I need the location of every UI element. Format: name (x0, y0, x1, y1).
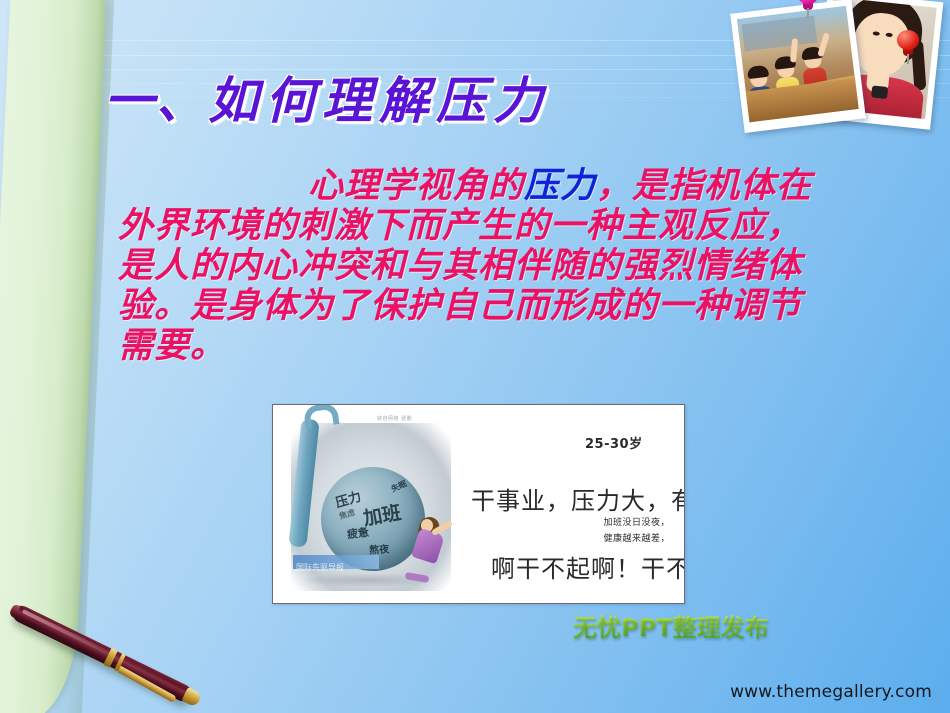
pushpin-magenta-icon (795, 0, 821, 18)
body-text-part1: 心理学视角的 (308, 166, 524, 206)
embedded-picture: 转自网络 侵删 压力 加班 疲惫 熬夜 失眠 焦虑 国际先驱导报 (272, 404, 685, 604)
photo-classroom-children (730, 0, 866, 133)
ball-word-insomnia: 失眠 (389, 478, 408, 495)
photo-collage (735, 0, 950, 116)
picture-tiny-caption: 转自网络 侵删 (377, 415, 412, 422)
pushpin-red-icon (895, 30, 921, 64)
fountain-pen-icon (14, 556, 234, 686)
title-label: 如何理解压力 (208, 72, 550, 130)
picture-watermark: 国际先驱导报 (293, 555, 379, 569)
title-number: 一、 (104, 72, 208, 130)
ball-word-tired: 疲惫 (346, 524, 370, 542)
age-label: 25-30岁 (585, 433, 643, 452)
picture-subline-1: 加班没日没夜， (603, 515, 670, 528)
picture-headline-2: 啊干不起啊！干不起！ (491, 549, 685, 584)
page-title: 一、如何理解压力 (104, 76, 550, 126)
picture-text-block: 25-30岁 干事业，压力大，有木有！ 加班没日没夜， 健康越来越差， 啊干不起… (469, 423, 676, 591)
slide-canvas: 一、如何理解压力 心理学视角的压力，是指机体在外界环境的刺激下而产生的一种主观反… (0, 0, 950, 713)
picture-subline-2: 健康越来越差， (603, 531, 670, 544)
credit-text: 无忧PPT整理发布 (573, 608, 769, 643)
picture-headline: 干事业，压力大，有木有！ (471, 481, 685, 516)
footer-url: www.themegallery.com (730, 682, 932, 702)
body-paragraph: 心理学视角的压力，是指机体在外界环境的刺激下而产生的一种主观反应，是人的内心冲突… (118, 166, 818, 366)
picture-watermark-label: 国际先驱导报 (293, 563, 344, 572)
body-text-highlight: 压力 (524, 166, 596, 206)
picture-illustration: 压力 加班 疲惫 熬夜 失眠 焦虑 国际先驱导报 (291, 423, 451, 591)
person-pushing-graphic (403, 519, 445, 577)
